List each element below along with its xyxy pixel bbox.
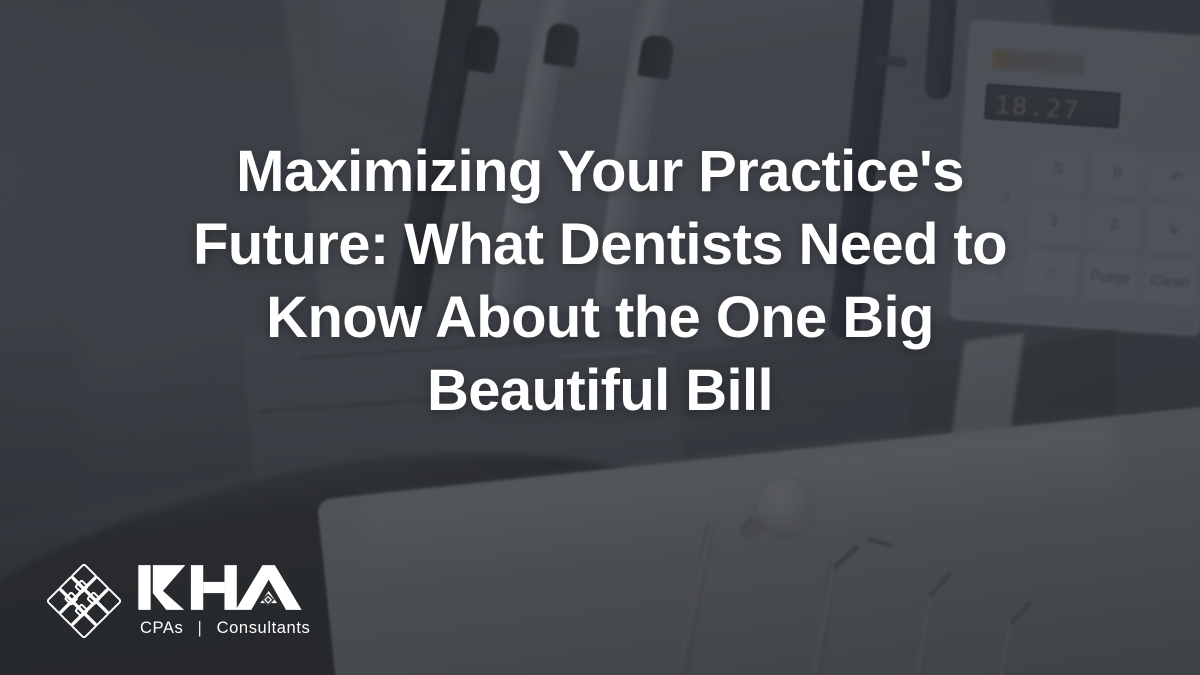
kha-wordmark-block: CPAs | Consultants	[136, 564, 310, 638]
tagline-separator: |	[198, 619, 203, 638]
kha-logo: CPAs | Consultants	[44, 561, 310, 641]
kha-tagline: CPAs | Consultants	[136, 619, 310, 638]
kha-diamond-lattice-mark-icon	[44, 561, 124, 641]
tagline-cpas: CPAs	[140, 619, 183, 637]
banner-content: Maximizing Your Practice's Future: What …	[0, 0, 1200, 675]
tagline-consultants: Consultants	[217, 619, 311, 637]
kha-wordmark	[136, 564, 304, 616]
banner-headline: Maximizing Your Practice's Future: What …	[150, 135, 1050, 427]
blog-banner: 18.27 ⤴ ⤵ ○ S 0 ↶ 1 2 ↳ ⌂ Purge Clean	[0, 0, 1200, 675]
